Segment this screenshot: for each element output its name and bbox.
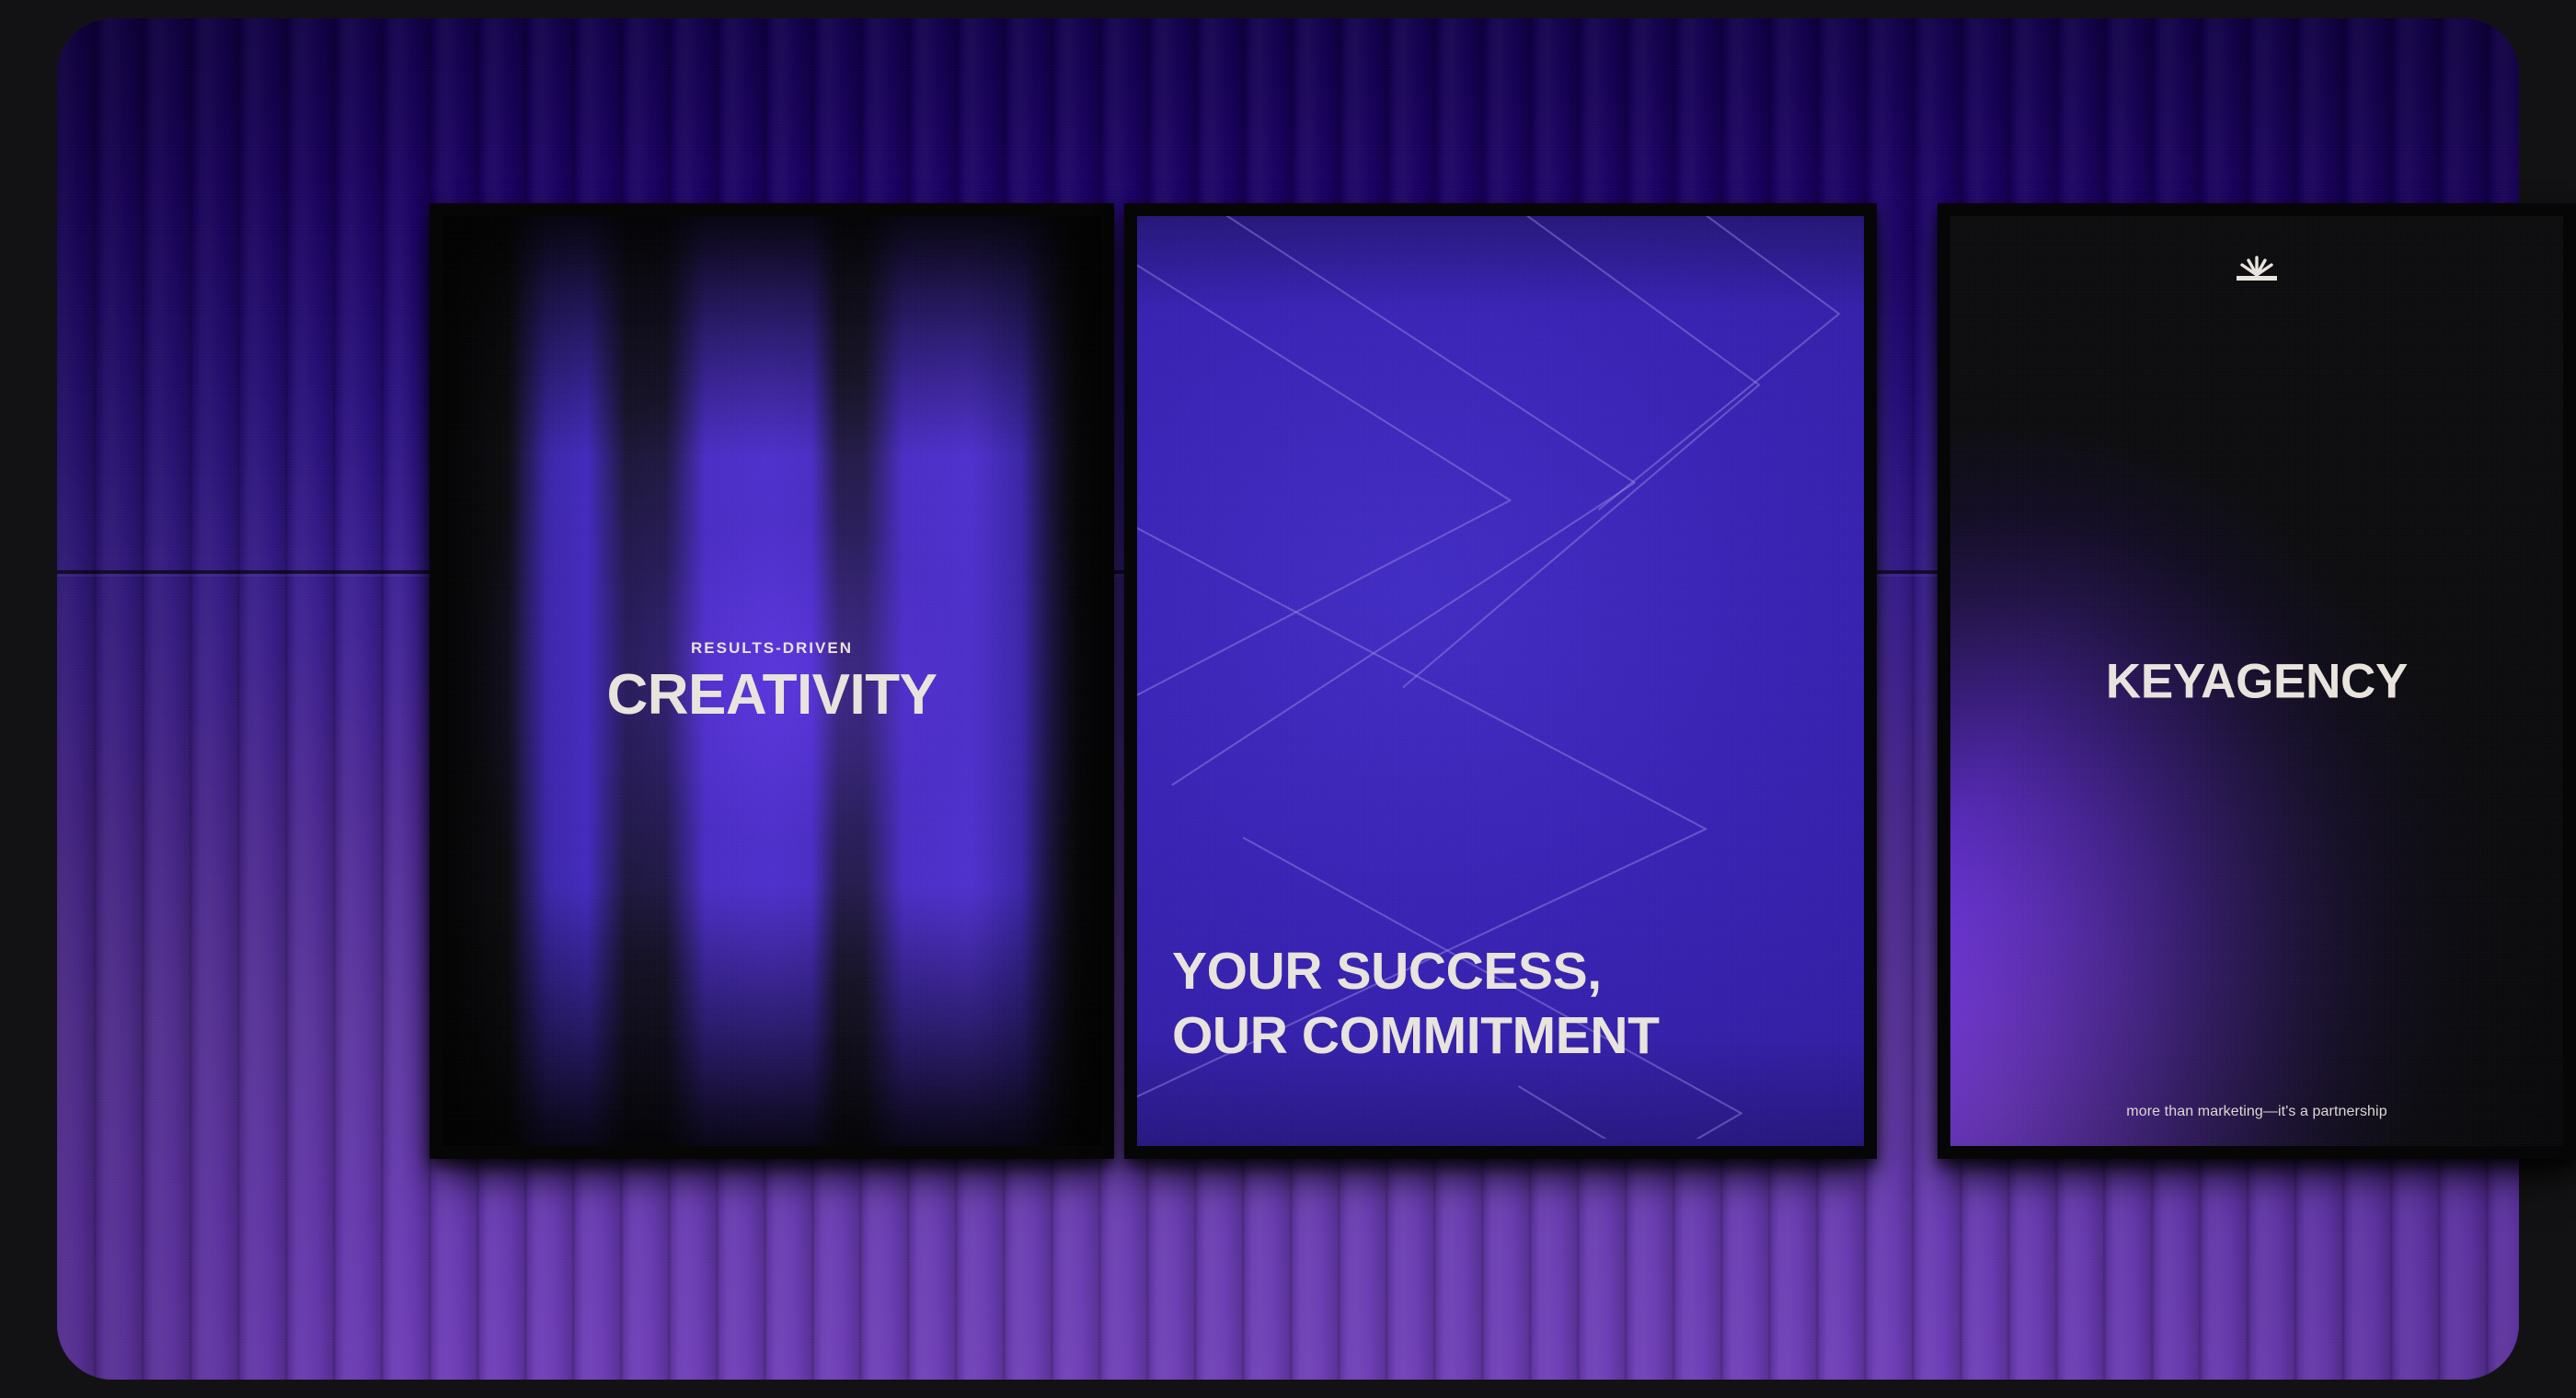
poster2-headline-line2: OUR COMMITMENT — [1172, 1003, 1660, 1069]
poster-keyagency: KEYAGENCY more than marketing—it's a par… — [1950, 216, 2563, 1146]
poster-wall-scene: RESULTS-DRIVEN CREATIVITY — [0, 0, 2576, 1398]
poster2-text-block: YOUR SUCCESS, OUR COMMITMENT — [1172, 939, 1660, 1069]
poster-frame-keyagency[interactable]: KEYAGENCY more than marketing—it's a par… — [1938, 203, 2576, 1159]
poster2-headline-line1: YOUR SUCCESS, — [1172, 939, 1660, 1004]
poster-frame-creativity[interactable]: RESULTS-DRIVEN CREATIVITY — [430, 203, 1114, 1159]
sunburst-rays-icon — [2233, 253, 2281, 289]
poster1-headline: CREATIVITY — [443, 667, 1101, 724]
poster1-eyebrow: RESULTS-DRIVEN — [443, 639, 1101, 658]
poster3-headline: KEYAGENCY — [1950, 653, 2563, 709]
poster-frame-commitment[interactable]: YOUR SUCCESS, OUR COMMITMENT — [1124, 203, 1877, 1159]
poster3-tagline: more than marketing—it's a partnership — [1950, 1104, 2563, 1120]
poster-commitment: YOUR SUCCESS, OUR COMMITMENT — [1137, 216, 1864, 1146]
poster1-text-block: RESULTS-DRIVEN CREATIVITY — [443, 639, 1101, 724]
poster-creativity: RESULTS-DRIVEN CREATIVITY — [443, 216, 1101, 1146]
